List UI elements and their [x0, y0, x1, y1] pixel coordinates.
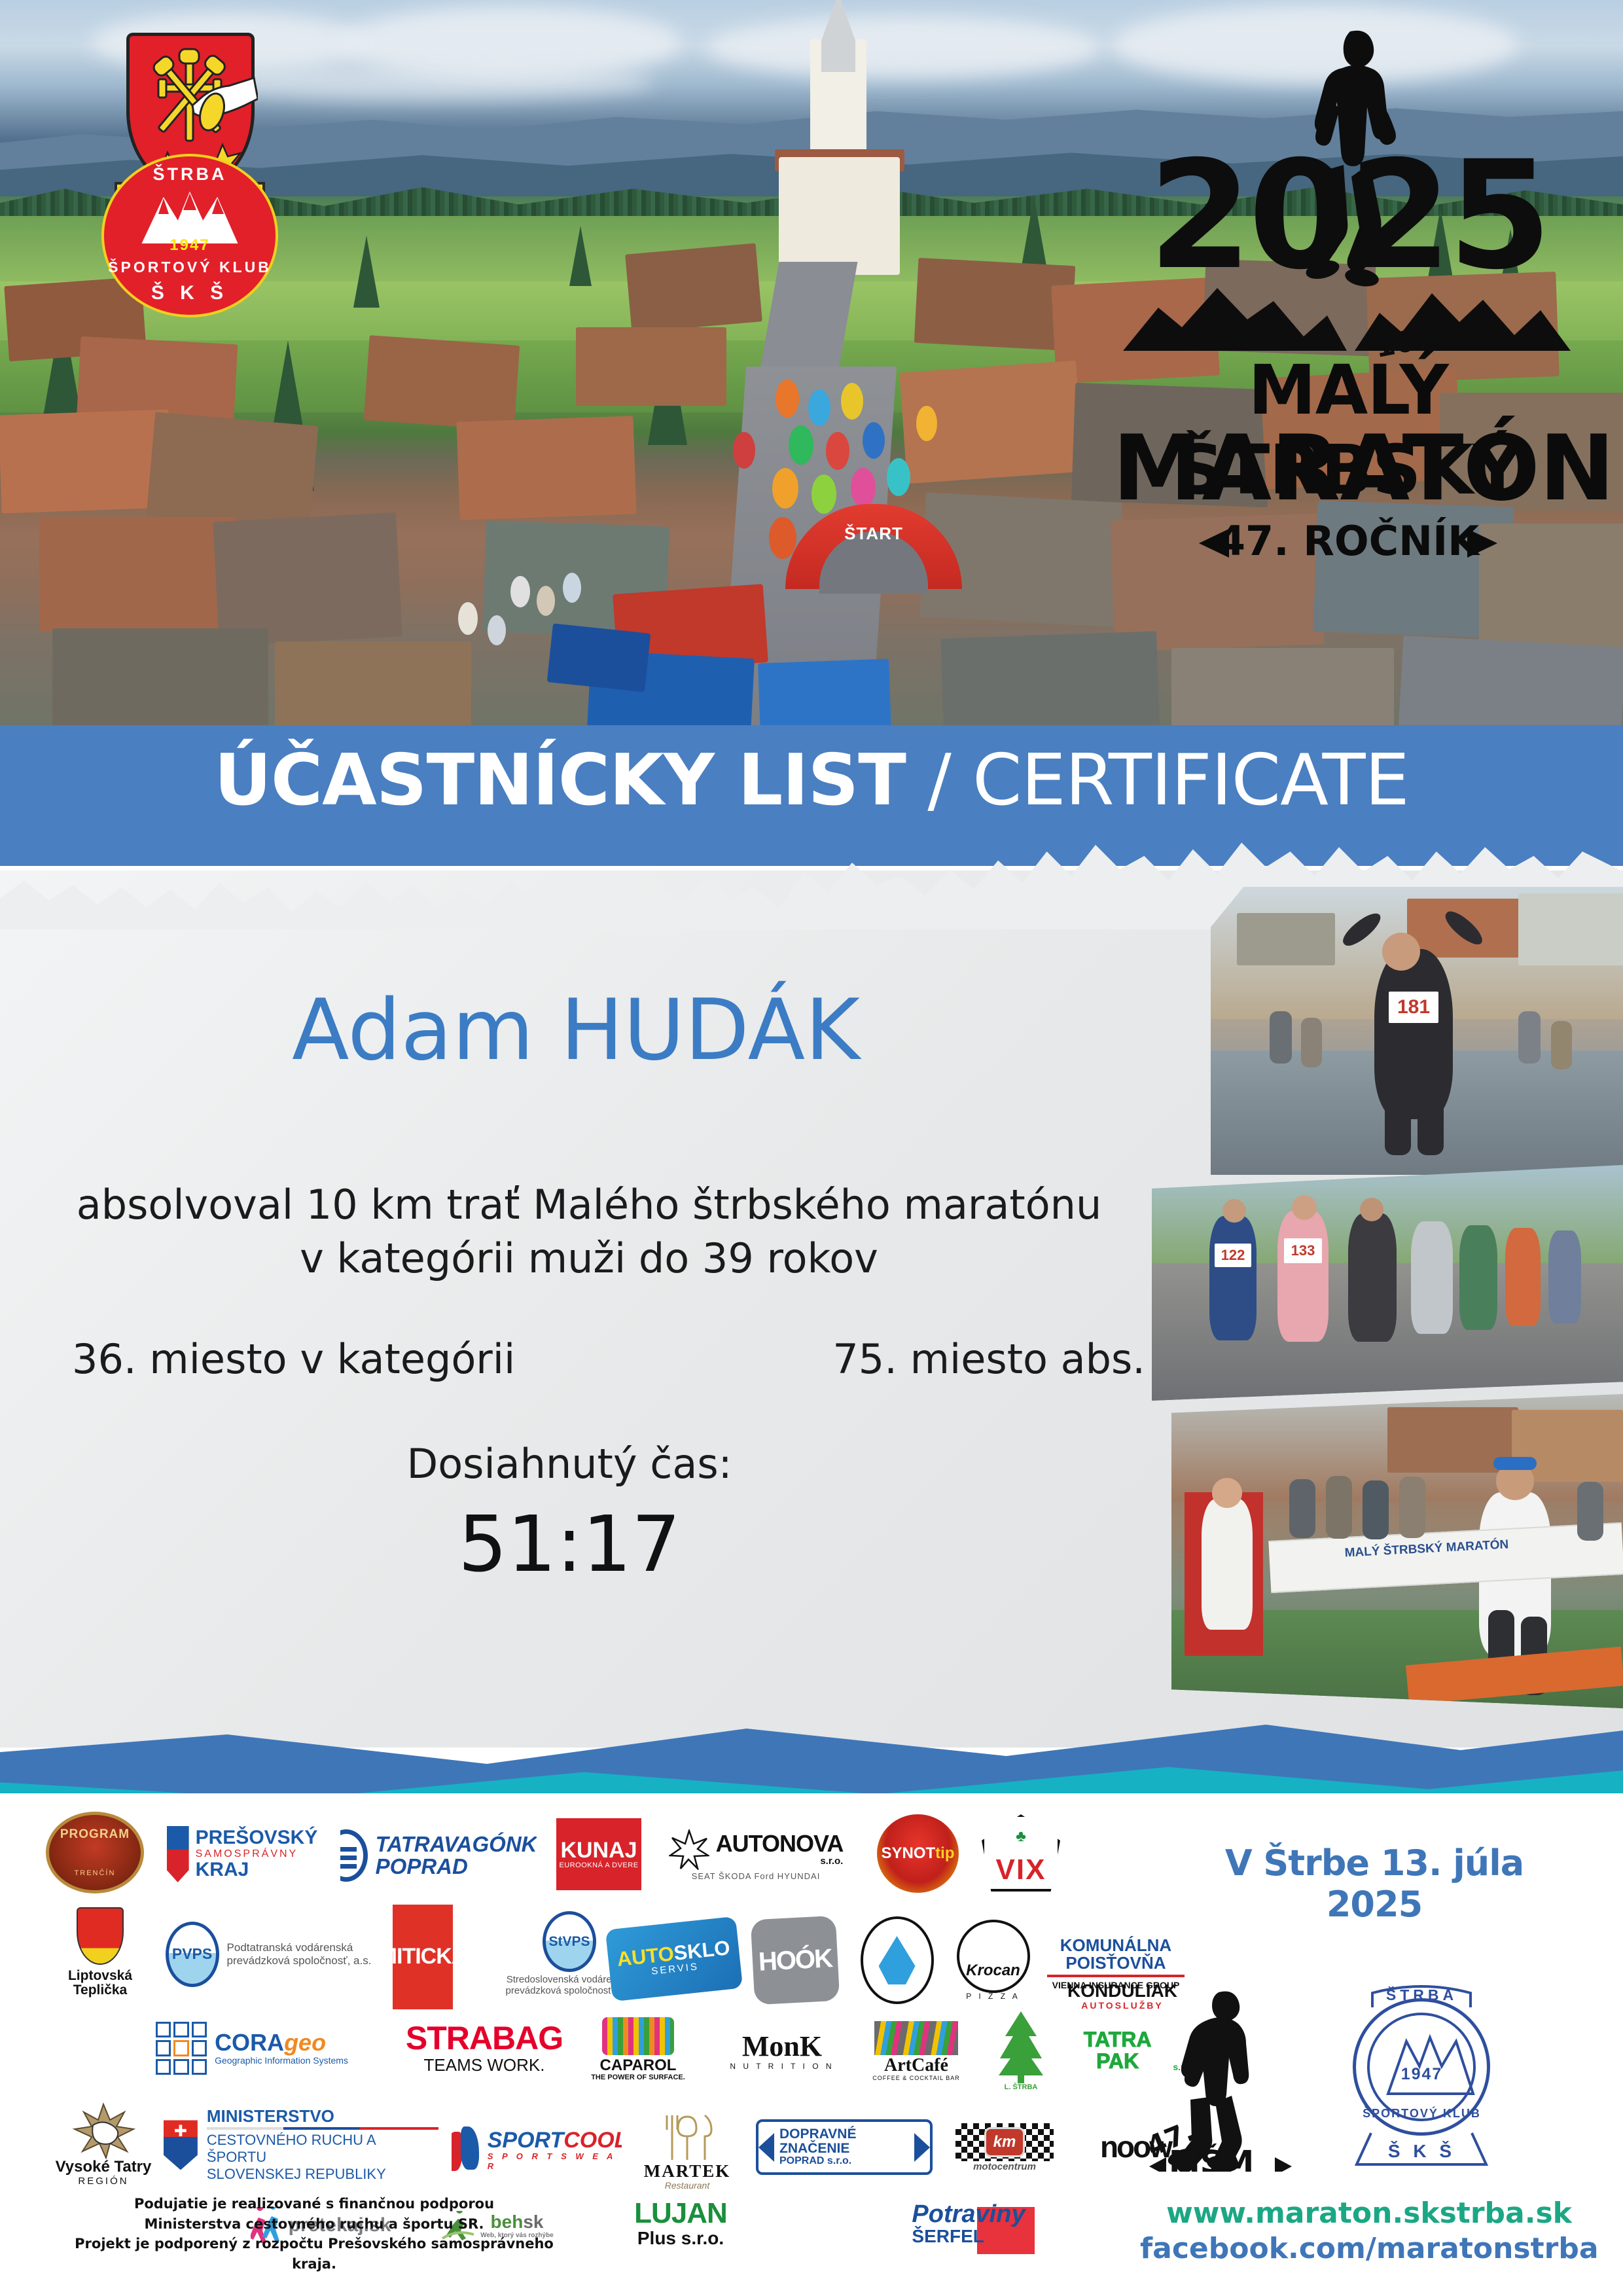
sks-stamp-year: 1947 [1338, 2065, 1505, 2084]
disclaimer-line-2: Ministerstva cestovného ruchu a športu S… [65, 2214, 563, 2234]
placement-row: 36. miesto v kategórii 75. miesto abs. [72, 1335, 1145, 1383]
sponsor-logo-lesy-strba: L. ŠTRBA [985, 2008, 1057, 2093]
sponsor-logo-autonova: AUTONOVA s.r.o. SEAT ŠKODA Ford HYUNDAI [658, 1816, 854, 1894]
sponsor-logo-vix: ♣ VIX [978, 1813, 1063, 1893]
sponsor-logo-potraviny-serfel: Potraviny ŠERFEL [883, 2191, 1054, 2257]
event-title-line2: MARATÓN [1113, 416, 1584, 521]
sks-logo-top-label: ŠTRBA [101, 164, 278, 185]
sponsor-logo-synot-tip: SYNOTtip [877, 1814, 959, 1893]
sponsor-logo-kunaj: KUNAJ EUROOKNÁ A DVERE [556, 1818, 641, 1890]
sks-club-stamp-logo: ŠTRBA 1947 ŠPORTOVÝ KLUB Š K Š [1338, 1979, 1505, 2175]
collage-photo-group: 122 133 [1152, 1165, 1623, 1401]
certificate-description: absolvoval 10 km trať Malého štrbského m… [0, 1178, 1178, 1285]
tree-icon [993, 2010, 1048, 2083]
sponsor-logo-miticka: MITICKÁ [393, 1905, 453, 2009]
place-in-category: 36. miesto v kategórii [72, 1335, 515, 1383]
sponsor-logo-pvps: PVPS Podtatranská vodárenská prevádzková… [160, 1916, 376, 1992]
church-spire [821, 0, 855, 72]
running-man-icon [1299, 26, 1417, 288]
photo-collage: 181 122 133 [1152, 887, 1623, 1725]
sponsor-logo-tatravagonka-poprad: TATRAVAGÓNKA POPRAD [340, 1820, 537, 1892]
sponsor-logo-autosklo-servis: AUTOSKLO SERVIS [605, 1916, 743, 2001]
sks-logo-year: 1947 [101, 236, 278, 255]
time-value: 51:17 [0, 1499, 1139, 1589]
sponsor-logo-ministerstvo: ✚ MINISTERSTVO CESTOVNÉHO RUCHU A ŠPORTU… [164, 2101, 438, 2189]
disclaimer-line-1: Podujatie je realizované s finančnou pod… [65, 2194, 563, 2214]
msm-runner-icon: 47. MŠM [1145, 1982, 1296, 2172]
website-link[interactable]: www.maraton.skstrba.sk [1140, 2196, 1598, 2232]
sks-stamp-abbrev: Š K Š [1338, 2141, 1505, 2162]
double-cross-icon: ✚ [174, 2124, 187, 2140]
sponsor-logo-pd-strba [856, 1914, 938, 2006]
collage-photo-finisher: 181 [1211, 887, 1623, 1175]
event-date: V Štrbe 13. júla 2025 [1171, 1842, 1577, 1925]
sponsor-logo-caparol: CAPAROL THE POWER OF SURFACE. [576, 2011, 700, 2088]
title-bold-part: ÚČASTNÍCKY LIST [214, 740, 906, 821]
sponsor-logo-presovsky-kraj: PREŠOVSKÝ SAMOSPRÁVNY KRAJ [157, 1818, 327, 1890]
msm-logo: 47. MŠM [1145, 1982, 1296, 2172]
disclaimer-line-3: Projekt je podporený z rozpočtu Prešovsk… [65, 2234, 563, 2274]
collage-photo-finish: MALÝ ŠTRBSKÝ MARATÓN [1171, 1394, 1623, 1708]
cutlery-icon [659, 2113, 715, 2162]
place-absolute: 75. miesto abs. [832, 1335, 1145, 1383]
sponsor-logo-program-trencin: PROGRAM TRENČÍN [46, 1812, 144, 1893]
title-separator: / [906, 740, 972, 821]
sks-logo-abbrev: Š K Š [101, 282, 278, 304]
sponsor-logo-vysoke-tatry: Vysoké Tatry REGIÓN [51, 2094, 156, 2193]
sks-club-logo: ŠTRBA 1947 ŠPORTOVÝ KLUB Š K Š [101, 154, 278, 317]
time-label: Dosiahnutý čas: [0, 1440, 1139, 1488]
sponsor-logo-grid: PROGRAM TRENČÍN PREŠOVSKÝ SAMOSPRÁVNY KR… [39, 1806, 1178, 2251]
event-logo-block: 2025 31 km 10 km MALÝ ŠTRBSKÝ MARATÓN 47… [1113, 20, 1584, 596]
description-line-1: absolvoval 10 km trať Malého štrbského m… [0, 1178, 1178, 1232]
sponsor-logo-monk-nutrition: MonK N U T R I T I O N [720, 2017, 844, 2086]
sponsor-logo-martek-restaurant: MARTEK Restaurant [628, 2104, 746, 2199]
collage-bib-number-2b: 133 [1284, 1238, 1322, 1263]
edition-arrow-right-icon [1467, 529, 1497, 558]
sponsor-logo-lujan-plus: LUJAN Plus s.r.o. [615, 2191, 746, 2257]
sponsor-logo-sportcool: SPORTCOOL S P O R T S W E A R [452, 2114, 622, 2186]
collage-bib-number: 181 [1389, 992, 1438, 1023]
msm-abbrev-text: MŠM [1169, 2144, 1254, 2172]
sks-stamp-subtitle: ŠPORTOVÝ KLUB [1338, 2107, 1505, 2121]
description-line-2: v kategórii muži do 39 rokov [0, 1232, 1178, 1285]
sks-stamp-top-label: ŠTRBA [1338, 1986, 1505, 2004]
edelweiss-chamois-icon [69, 2100, 137, 2159]
title-regular-part: CERTIFICATE [972, 740, 1409, 821]
certificate-title-band: ÚČASTNÍCKY LIST / CERTIFICATE [0, 725, 1623, 866]
sponsor-logo-hook: HOÓK [751, 1916, 840, 2005]
participant-name: Adam HUDÁK [0, 982, 1152, 1079]
contact-links: www.maraton.skstrba.sk facebook.com/mara… [1140, 2196, 1598, 2267]
sponsor-logo-strabag: STRABAG TEAMS WORK. [406, 2013, 563, 2085]
event-edition: 47. ROČNÍK [1113, 517, 1584, 565]
certificate-page: ŠTART [0, 0, 1623, 2296]
collage-bib-number-2a: 122 [1215, 1244, 1251, 1267]
starburst-icon [669, 1829, 709, 1870]
sponsor-logo-dopravne-znacenie: DOPRAVNÉ ZNAČENIE POPRAD s.r.o. [756, 2119, 933, 2175]
sponsor-logo-km-motocentrum: km motocentrum [949, 2109, 1060, 2186]
sponsor-logo-artcafe: ArtCafé COFFEE & COCKTAIL BAR [857, 2013, 975, 2090]
start-arch-label: ŠTART [815, 524, 933, 544]
facebook-link[interactable]: facebook.com/maratonstrba [1140, 2231, 1598, 2267]
sponsor-logo-liptovska-teplicka: Liptovská Teplička [51, 1905, 149, 2000]
clover-icon: ♣ [1016, 1827, 1026, 1846]
funding-disclaimer: Podujatie je realizované s finančnou pod… [65, 2194, 563, 2274]
sks-logo-subtitle: ŠPORTOVÝ KLUB [101, 259, 278, 276]
sponsor-logo-corageo: CORAgeo Geographic Information Systems [151, 2011, 353, 2086]
sponsor-logo-krocan-pizza: Krocan P I Z Z A [949, 1914, 1037, 2006]
footer: PROGRAM TRENČÍN PREŠOVSKÝ SAMOSPRÁVNY KR… [0, 1793, 1623, 2296]
